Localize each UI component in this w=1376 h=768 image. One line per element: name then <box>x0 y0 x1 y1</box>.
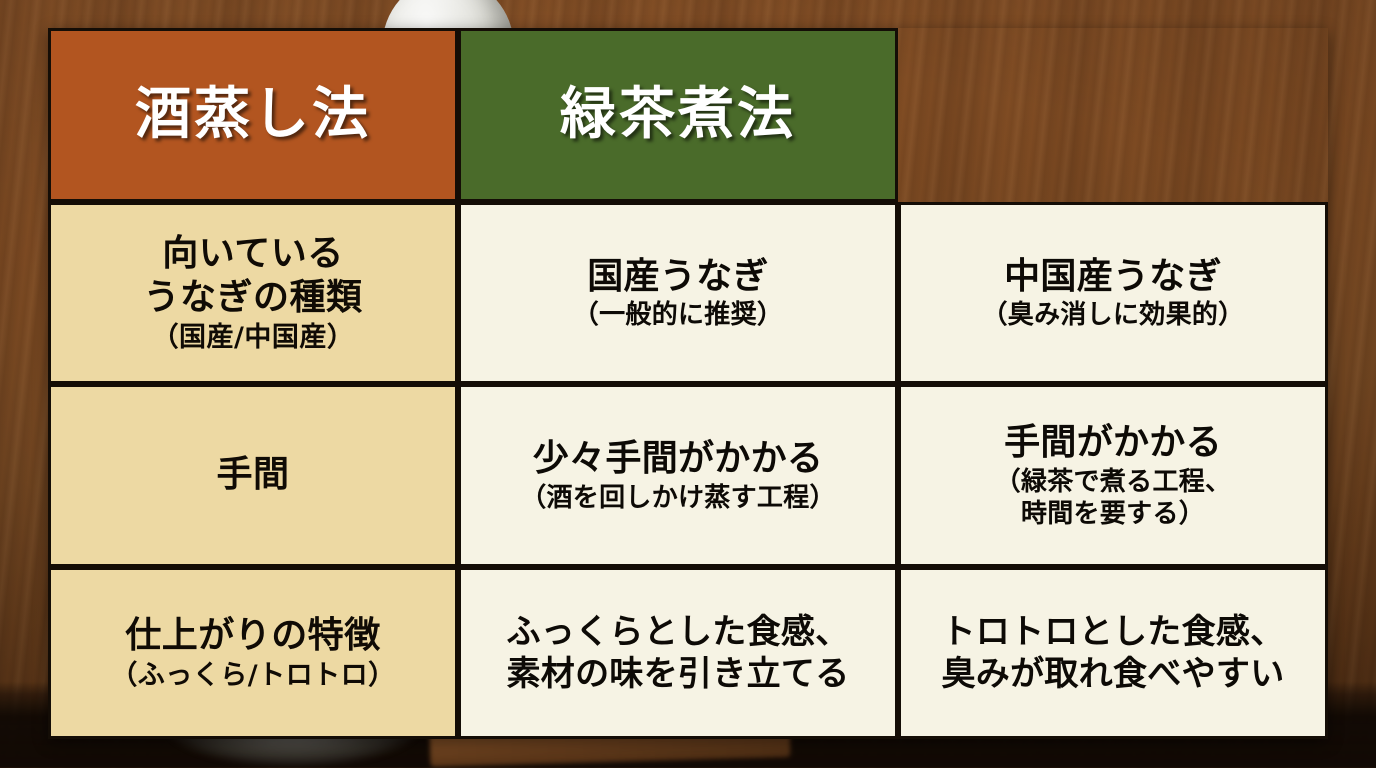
row1-tea-line1: 中国産うなぎ <box>911 255 1315 300</box>
header-sake-steam-method: 酒蒸し法 <box>48 28 458 202</box>
row2-label-line1: 手間 <box>61 453 445 498</box>
row2-tea-line1: 手間がかかる <box>911 421 1315 466</box>
comparison-table-container: 酒蒸し法 緑茶煮法 向いている うなぎの種類 （国産/中国産） 国産うなぎ （一… <box>48 28 1328 738</box>
row1-sake-line1: 国産うなぎ <box>471 255 885 300</box>
table-row: 向いている うなぎの種類 （国産/中国産） 国産うなぎ （一般的に推奨） 中国産… <box>48 202 1328 384</box>
row-label-effort: 手間 <box>48 384 458 567</box>
row3-tea-line2: 臭みが取れ食べやすい <box>911 653 1315 695</box>
slide-canvas: 酒蒸し法 緑茶煮法 向いている うなぎの種類 （国産/中国産） 国産うなぎ （一… <box>0 0 1376 768</box>
row3-label-line2: （ふっくら/トロトロ） <box>61 659 445 692</box>
row2-tea-line3: 時間を要する） <box>911 498 1315 530</box>
row1-label-line2: うなぎの種類 <box>61 276 445 321</box>
row3-sake-line2: 素材の味を引き立てる <box>471 653 885 695</box>
row1-label-line1: 向いている <box>61 232 445 277</box>
table-row: 仕上がりの特徴 （ふっくら/トロトロ） ふっくらとした食感、 素材の味を引き立て… <box>48 567 1328 739</box>
table-header: 酒蒸し法 緑茶煮法 <box>48 28 1328 202</box>
cell-tea-row3: トロトロとした食感、 臭みが取れ食べやすい <box>898 567 1328 739</box>
row1-tea-line2: （臭み消しに効果的） <box>911 299 1315 331</box>
row1-label-line3: （国産/中国産） <box>61 321 445 354</box>
table-row: 手間 少々手間がかかる （酒を回しかけ蒸す工程） 手間がかかる （緑茶で煮る工程… <box>48 384 1328 567</box>
row2-sake-line1: 少々手間がかかる <box>471 437 885 482</box>
header-green-tea-boil-method: 緑茶煮法 <box>458 28 898 202</box>
row2-sake-line2: （酒を回しかけ蒸す工程） <box>471 482 885 514</box>
row3-label-line1: 仕上がりの特徴 <box>61 614 445 659</box>
row1-sake-line2: （一般的に推奨） <box>471 299 885 331</box>
row2-tea-line2: （緑茶で煮る工程、 <box>911 466 1315 498</box>
comparison-table: 酒蒸し法 緑茶煮法 向いている うなぎの種類 （国産/中国産） 国産うなぎ （一… <box>48 28 1328 739</box>
header-row: 酒蒸し法 緑茶煮法 <box>48 28 1328 202</box>
row3-tea-line1: トロトロとした食感、 <box>911 611 1315 653</box>
cell-tea-row1: 中国産うなぎ （臭み消しに効果的） <box>898 202 1328 384</box>
row-label-finish-texture: 仕上がりの特徴 （ふっくら/トロトロ） <box>48 567 458 739</box>
cell-sake-row2: 少々手間がかかる （酒を回しかけ蒸す工程） <box>458 384 898 567</box>
row-label-eel-type: 向いている うなぎの種類 （国産/中国産） <box>48 202 458 384</box>
cell-sake-row3: ふっくらとした食感、 素材の味を引き立てる <box>458 567 898 739</box>
cell-sake-row1: 国産うなぎ （一般的に推奨） <box>458 202 898 384</box>
row3-sake-line1: ふっくらとした食感、 <box>471 611 885 653</box>
table-body: 向いている うなぎの種類 （国産/中国産） 国産うなぎ （一般的に推奨） 中国産… <box>48 202 1328 739</box>
cell-tea-row2: 手間がかかる （緑茶で煮る工程、 時間を要する） <box>898 384 1328 567</box>
